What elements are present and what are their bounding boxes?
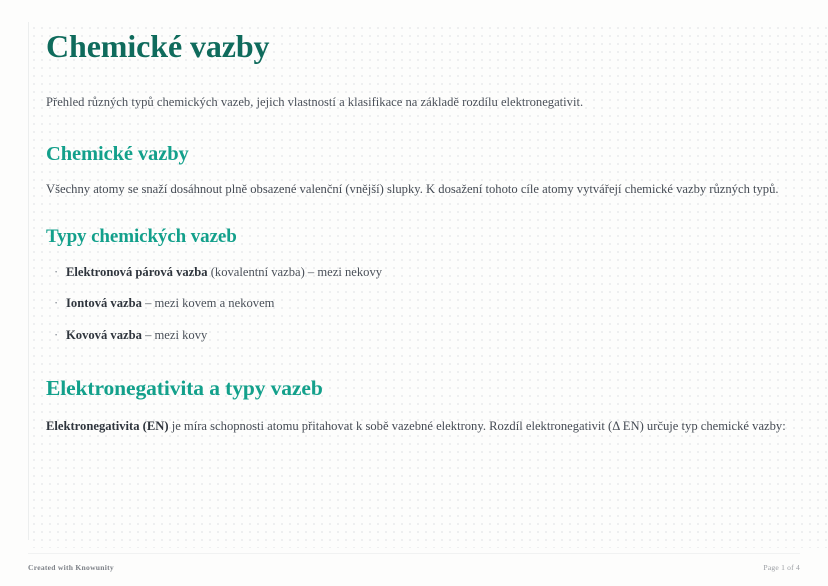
list-item: · Elektronová párová vazba (kovalentní v… (46, 263, 786, 282)
section-paragraph-chemicke-vazby: Všechny atomy se snaží dosáhnout plně ob… (46, 180, 786, 200)
document-content: Chemické vazby Přehled různých typů chem… (46, 28, 786, 437)
document-page: Chemické vazby Přehled různých typů chem… (0, 0, 828, 586)
list-item: · Kovová vazba – mezi kovy (46, 326, 786, 345)
list-item-term: Kovová vazba (66, 328, 142, 342)
list-item-description: (kovalentní vazba) – mezi nekovy (208, 265, 383, 279)
list-item-term: Iontová vazba (66, 296, 142, 310)
footer-divider (28, 553, 800, 554)
list-item-term: Elektronová párová vazba (66, 265, 208, 279)
section-heading-elektronegativita: Elektronegativita a typy vazeb (46, 376, 786, 402)
electronegativity-term: Elektronegativita (EN) (46, 419, 169, 433)
section-heading-chemicke-vazby: Chemické vazby (46, 142, 786, 167)
bond-types-list: · Elektronová párová vazba (kovalentní v… (46, 263, 786, 346)
bullet-dot-icon: · (54, 263, 58, 282)
left-margin-rule (28, 22, 29, 540)
list-item-description: – mezi kovy (142, 328, 207, 342)
footer-page-number: Page 1 of 4 (763, 563, 800, 572)
electronegativity-description: je míra schopnosti atomu přitahovat k so… (169, 419, 786, 433)
list-item-description: – mezi kovem a nekovem (142, 296, 275, 310)
section-heading-typy-chemickych-vazeb: Typy chemických vazeb (46, 226, 786, 249)
section-paragraph-elektronegativita: Elektronegativita (EN) je míra schopnost… (46, 417, 786, 437)
document-subtitle: Přehled různých typů chemických vazeb, j… (46, 93, 786, 112)
page-title: Chemické vazby (46, 28, 786, 66)
list-item: · Iontová vazba – mezi kovem a nekovem (46, 294, 786, 313)
bullet-dot-icon: · (54, 326, 58, 345)
footer-brand-label: Created with Knowunity (28, 563, 114, 572)
page-footer: Created with Knowunity Page 1 of 4 (28, 558, 800, 576)
bullet-dot-icon: · (54, 294, 58, 313)
